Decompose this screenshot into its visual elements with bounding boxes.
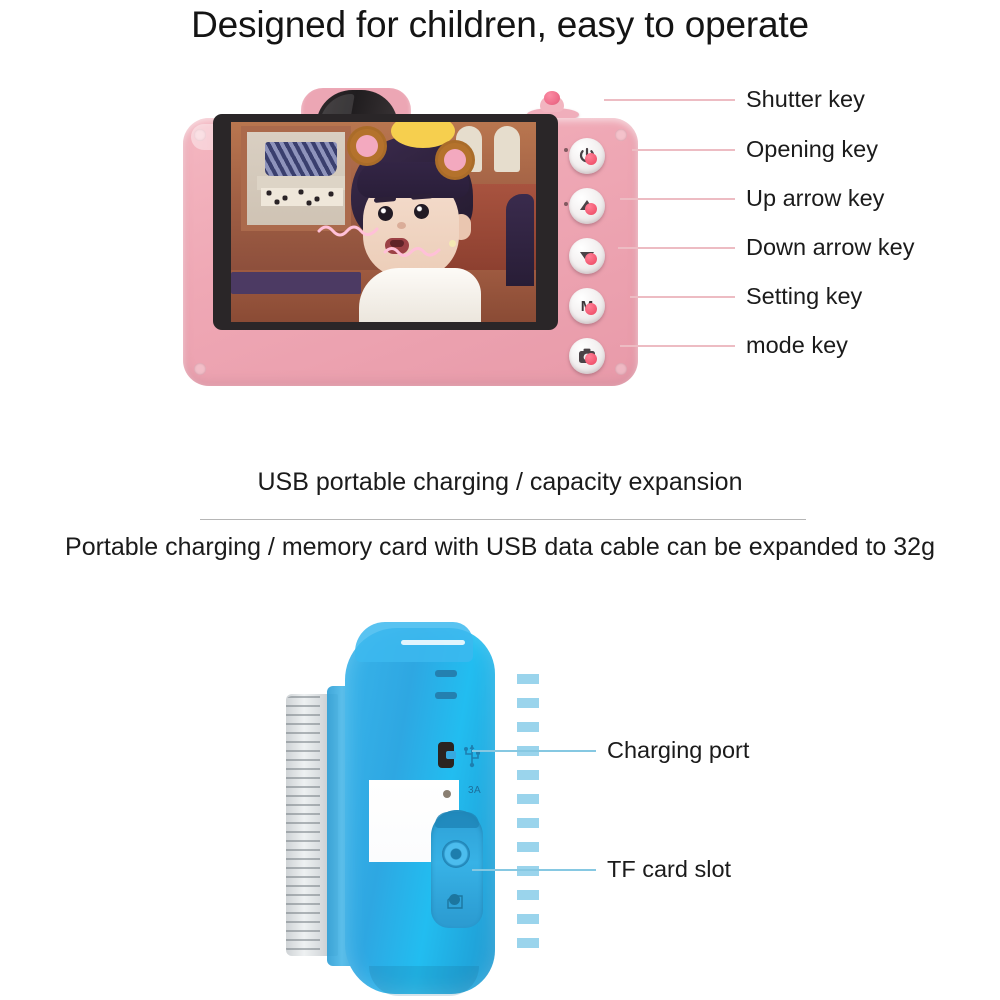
microphone-hole bbox=[564, 202, 568, 206]
blue-camera-illustration: 3A bbox=[283, 622, 543, 1000]
child-eye bbox=[378, 206, 393, 221]
usb-icon bbox=[461, 742, 483, 768]
child-eye bbox=[414, 204, 429, 219]
current-rating-label: 3A bbox=[468, 785, 481, 796]
side-round-button[interactable] bbox=[442, 840, 470, 868]
ar-dot-sticker bbox=[449, 240, 456, 247]
mode-m-button[interactable]: M bbox=[569, 288, 605, 324]
button-highlight bbox=[585, 153, 597, 165]
scene-bench bbox=[231, 272, 361, 294]
leader-line-down bbox=[618, 247, 735, 249]
child-shirt bbox=[359, 268, 481, 322]
callout-charging-port: Charging port bbox=[607, 737, 749, 764]
leader-line-opening bbox=[632, 149, 735, 151]
screw-icon bbox=[194, 363, 206, 375]
callout-up-arrow-key: Up arrow key bbox=[746, 185, 884, 212]
lens-ring-ridges bbox=[286, 696, 320, 954]
screw-icon bbox=[194, 129, 206, 141]
section-divider bbox=[200, 519, 806, 520]
button-highlight bbox=[585, 303, 597, 315]
leader-line-tf-card-slot bbox=[472, 869, 596, 871]
usb-charging-heading: USB portable charging / capacity expansi… bbox=[0, 468, 1000, 497]
leader-line-shutter bbox=[604, 99, 735, 101]
scene-pillar bbox=[494, 126, 520, 172]
callout-tf-card-slot: TF card slot bbox=[607, 856, 731, 883]
callout-opening-key: Opening key bbox=[746, 136, 878, 163]
screw-icon bbox=[615, 363, 627, 375]
photo-mode-button[interactable] bbox=[569, 338, 605, 374]
vent-slot bbox=[435, 692, 457, 699]
child-nose bbox=[397, 222, 406, 229]
screw-icon bbox=[615, 129, 627, 141]
leader-line-mode bbox=[620, 345, 735, 347]
vent-slot bbox=[435, 670, 457, 677]
leader-line-up bbox=[620, 198, 735, 200]
callout-mode-key: mode key bbox=[746, 332, 848, 359]
leader-line-charging-port bbox=[472, 750, 596, 752]
usb-port[interactable] bbox=[438, 742, 454, 768]
recess-lip bbox=[435, 812, 479, 828]
scene-second-child bbox=[506, 194, 534, 286]
button-highlight bbox=[585, 203, 597, 215]
scene-cloth bbox=[265, 142, 337, 176]
letter-m-icon: M bbox=[576, 295, 598, 317]
pink-camera-illustration: M bbox=[183, 88, 643, 388]
ar-whisker-icon bbox=[383, 244, 441, 260]
top-highlight bbox=[401, 640, 465, 645]
usb-charging-description: Portable charging / memory card with USB… bbox=[0, 533, 1000, 562]
power-icon bbox=[576, 145, 598, 167]
down-arrow-icon bbox=[576, 245, 598, 267]
button-highlight bbox=[585, 353, 597, 365]
up-button[interactable] bbox=[569, 188, 605, 224]
shutter-button[interactable] bbox=[544, 91, 560, 105]
up-arrow-icon bbox=[576, 195, 598, 217]
down-button[interactable] bbox=[569, 238, 605, 274]
camera-mode-icon bbox=[576, 345, 598, 367]
button-highlight bbox=[585, 253, 597, 265]
bottom-shadow bbox=[369, 966, 479, 996]
ar-bear-ear-icon bbox=[435, 140, 475, 180]
tf-card-hole bbox=[449, 894, 460, 905]
microphone-hole bbox=[564, 148, 568, 152]
leader-line-setting bbox=[630, 296, 735, 298]
ar-bear-ear-icon bbox=[347, 126, 387, 166]
callout-setting-key: Setting key bbox=[746, 283, 862, 310]
page-title: Designed for children, easy to operate bbox=[0, 4, 1000, 46]
callout-shutter-key: Shutter key bbox=[746, 86, 865, 113]
ar-whisker-icon bbox=[317, 222, 379, 238]
indicator-led bbox=[443, 790, 451, 798]
callout-down-arrow-key: Down arrow key bbox=[746, 234, 914, 261]
grip-ridges bbox=[517, 660, 539, 960]
power-button[interactable] bbox=[569, 138, 605, 174]
scene-patterned-panel bbox=[261, 188, 343, 206]
camera-display bbox=[231, 122, 536, 322]
